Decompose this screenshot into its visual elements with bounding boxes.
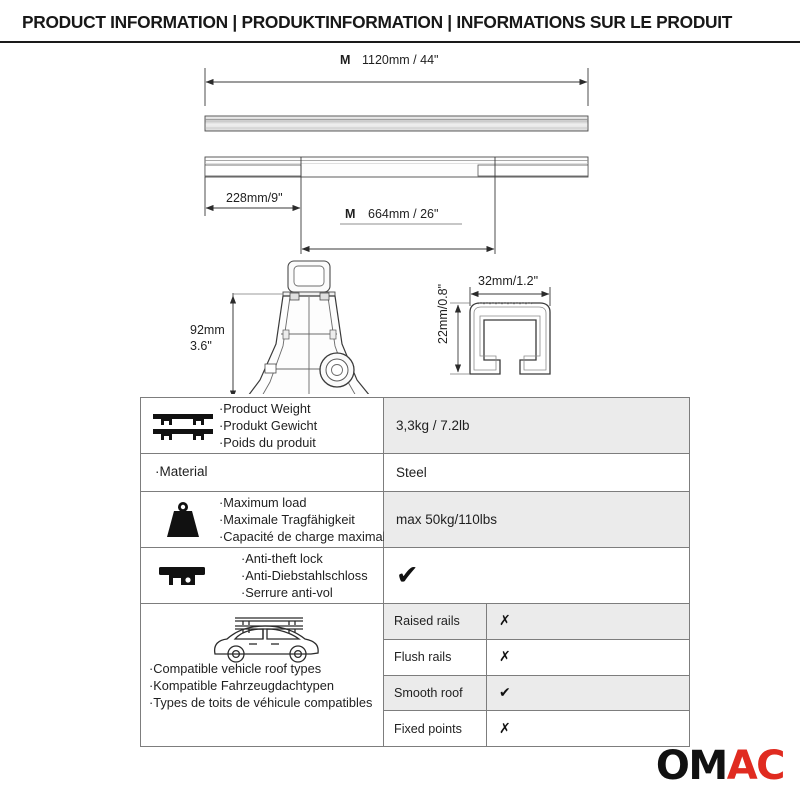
label-line: ·Capacité de charge maximale: [219, 528, 393, 545]
roof-types-labels: ·Compatible vehicle roof types ·Kompatib…: [149, 660, 381, 711]
specification-table: ·Product Weight ·Produkt Gewicht ·Poids …: [140, 397, 690, 747]
lock-icon: [147, 561, 219, 591]
page-header: PRODUCT INFORMATION | PRODUKTINFORMATION…: [0, 0, 800, 44]
technical-drawing-svg: M 1120mm / 44" 228mm/9" M 664mm / 26" 92…: [0, 44, 800, 394]
label-line: ·Poids du produit: [219, 434, 317, 451]
foot-spacing-value: 664mm / 26": [368, 207, 438, 221]
omac-logo: OMAC: [656, 746, 784, 786]
roof-options-list: Raised rails ✗ Flush rails ✗ Smooth roof…: [384, 604, 689, 746]
roof-option-mark: ✔: [487, 676, 689, 711]
table-row-product-weight: ·Product Weight ·Produkt Gewicht ·Poids …: [141, 398, 689, 454]
material-label-cell: ·Material: [141, 454, 384, 491]
roof-option-label: Raised rails: [384, 604, 487, 639]
logo-text-om: OM: [656, 743, 727, 789]
label-line: ·Maximum load: [219, 494, 393, 511]
roof-option-raised-rails: Raised rails ✗: [384, 604, 689, 640]
label-line: ·Anti-Diebstahlschloss: [241, 567, 368, 584]
roof-option-mark: ✗: [487, 640, 689, 675]
label-line: ·Kompatible Fahrzeugdachtypen: [149, 677, 381, 694]
label-line: ·Compatible vehicle roof types: [149, 660, 381, 677]
header-divider: [0, 41, 800, 43]
material-value: Steel: [384, 454, 689, 491]
product-weight-labels: ·Product Weight ·Produkt Gewicht ·Poids …: [219, 400, 317, 451]
table-row-roof-types: ·Compatible vehicle roof types ·Kompatib…: [141, 604, 689, 746]
maximum-load-label-cell: ·Maximum load ·Maximale Tragfähigkeit ·C…: [141, 492, 384, 547]
roof-option-label: Flush rails: [384, 640, 487, 675]
maximum-load-labels: ·Maximum load ·Maximale Tragfähigkeit ·C…: [219, 494, 393, 545]
product-weight-value: 3,3kg / 7.2lb: [384, 398, 689, 453]
anti-theft-lock-value: ✔: [384, 548, 689, 603]
label-line: ·Product Weight: [219, 400, 317, 417]
product-weight-label-cell: ·Product Weight ·Produkt Gewicht ·Poids …: [141, 398, 384, 453]
roof-option-fixed-points: Fixed points ✗: [384, 711, 689, 746]
technical-drawing-area: M 1120mm / 44" 228mm/9" M 664mm / 26" 92…: [0, 44, 800, 394]
roof-option-label: Smooth roof: [384, 676, 487, 711]
anti-theft-lock-label-cell: ·Anti-theft lock ·Anti-Diebstahlschloss …: [141, 548, 384, 603]
label-line: ·Anti-theft lock: [241, 550, 368, 567]
roof-types-label-cell: ·Compatible vehicle roof types ·Kompatib…: [141, 604, 384, 746]
end-offset-value: 228mm/9": [226, 191, 283, 205]
logo-text-ac: AC: [727, 743, 784, 789]
bar-length-value: 1120mm / 44": [362, 53, 438, 67]
roof-option-mark: ✗: [487, 711, 689, 746]
foot-height-line2: 3.6": [190, 339, 212, 353]
bar-length-prefix: M: [340, 53, 350, 67]
roof-option-label: Fixed points: [384, 711, 487, 746]
label-line: ·Produkt Gewicht: [219, 417, 317, 434]
table-row-material: ·Material Steel: [141, 454, 689, 492]
label-line: ·Types de toits de véhicule compatibles: [149, 694, 381, 711]
roof-option-flush-rails: Flush rails ✗: [384, 640, 689, 676]
foot-spacing-prefix: M: [345, 207, 355, 221]
profile-height-value: 22mm/0.8": [436, 284, 450, 344]
label-line: ·Serrure anti-vol: [241, 584, 368, 601]
foot-height-line1: 92mm: [190, 323, 225, 337]
crossbars-icon: [147, 409, 219, 443]
maximum-load-value: max 50kg/110lbs: [384, 492, 689, 547]
check-icon: ✔: [396, 562, 419, 589]
material-labels: ·Material: [155, 463, 208, 481]
profile-width-value: 32mm/1.2": [478, 274, 538, 288]
label-line: ·Maximale Tragfähigkeit: [219, 511, 393, 528]
label-line: ·Material: [155, 463, 208, 481]
table-row-maximum-load: ·Maximum load ·Maximale Tragfähigkeit ·C…: [141, 492, 689, 548]
roof-option-mark: ✗: [487, 604, 689, 639]
table-row-anti-theft-lock: ·Anti-theft lock ·Anti-Diebstahlschloss …: [141, 548, 689, 604]
weight-icon: [147, 500, 219, 540]
roof-option-smooth-roof: Smooth roof ✔: [384, 676, 689, 712]
page-title: PRODUCT INFORMATION | PRODUKTINFORMATION…: [22, 12, 732, 33]
anti-theft-lock-labels: ·Anti-theft lock ·Anti-Diebstahlschloss …: [219, 550, 368, 601]
